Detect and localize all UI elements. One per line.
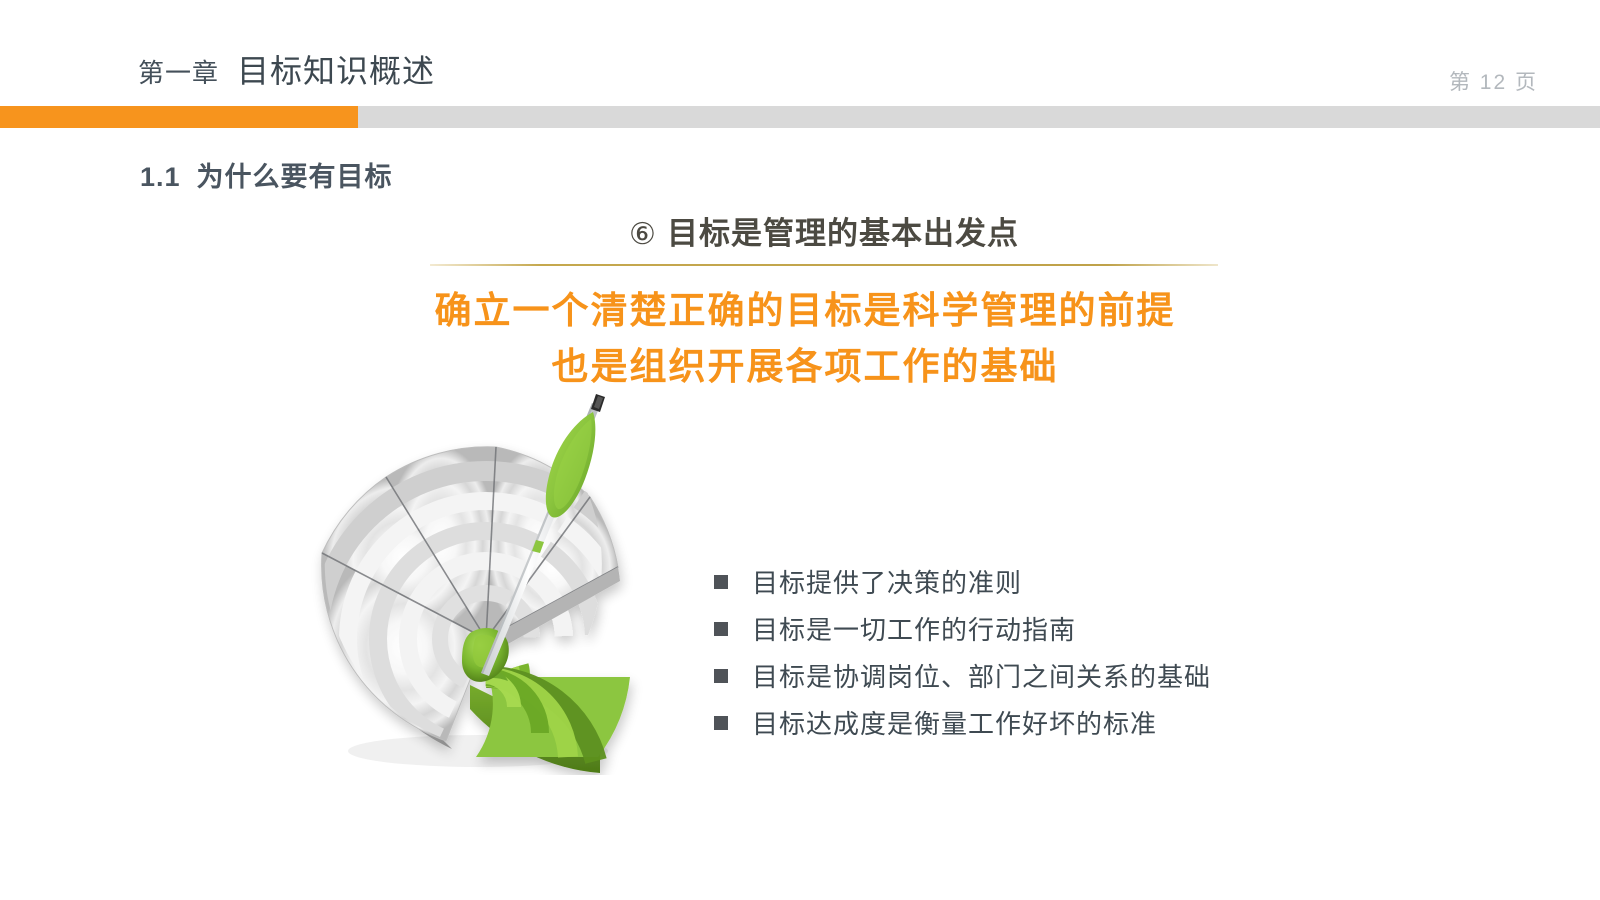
list-item: 目标是协调岗位、部门之间关系的基础 (714, 652, 1334, 699)
list-item: 目标是一切工作的行动指南 (714, 605, 1334, 652)
square-bullet-icon (714, 716, 728, 730)
list-item-label: 目标是一切工作的行动指南 (752, 610, 1076, 647)
section-title: 为什么要有目标 (197, 162, 393, 192)
list-item: 目标达成度是衡量工作好坏的标准 (714, 699, 1334, 746)
topic-heading: ⑥目标是管理的基本出发点 (430, 208, 1218, 253)
list-item-label: 目标提供了决策的准则 (752, 563, 1022, 600)
square-bullet-icon (714, 669, 728, 683)
header-accent-bar (0, 106, 358, 128)
topic-underline (430, 264, 1218, 266)
list-item-label: 目标达成度是衡量工作好坏的标准 (752, 704, 1157, 741)
section-heading: 1.1为什么要有目标 (140, 155, 393, 194)
bullet-list: 目标提供了决策的准则 目标是一切工作的行动指南 目标是协调岗位、部门之间关系的基… (714, 558, 1334, 746)
slide: 第一章 目标知识概述 第 12 页 1.1为什么要有目标 ⑥目标是管理的基本出发… (0, 0, 1600, 900)
chapter-number: 第一章 (138, 53, 219, 90)
header-divider-bar (0, 106, 1600, 128)
slide-header: 第一章 目标知识概述 第 12 页 (0, 0, 1600, 128)
section-number: 1.1 (140, 162, 181, 192)
square-bullet-icon (714, 575, 728, 589)
topic-heading-block: ⑥目标是管理的基本出发点 (430, 208, 1218, 266)
chapter-title: 目标知识概述 (237, 46, 435, 92)
page-number: 第 12 页 (1449, 66, 1538, 96)
circled-number-icon: ⑥ (629, 218, 657, 251)
square-bullet-icon (714, 622, 728, 636)
list-item: 目标提供了决策的准则 (714, 558, 1334, 605)
statement-block: 确立一个清楚正确的目标是科学管理的前提 也是组织开展各项工作的基础 (260, 283, 1350, 395)
list-item-label: 目标是协调岗位、部门之间关系的基础 (752, 657, 1211, 694)
topic-title: 目标是管理的基本出发点 (667, 216, 1019, 251)
archery-target-icon (300, 385, 680, 775)
header-title: 第一章 目标知识概述 (138, 46, 435, 92)
statement-line-1: 确立一个清楚正确的目标是科学管理的前提 (260, 283, 1350, 339)
